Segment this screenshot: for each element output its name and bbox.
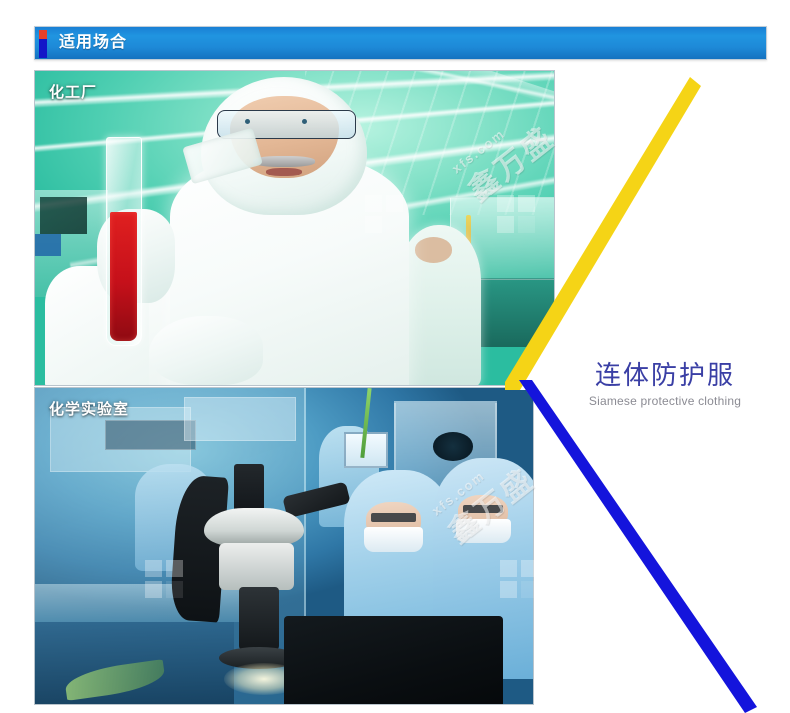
photo-caption-chemical-plant: 化工厂: [49, 81, 97, 102]
technician-face-mask: [364, 527, 424, 552]
product-title-block: 连体防护服 Siamese protective clothing: [560, 362, 770, 409]
worker-mustache: [253, 156, 315, 167]
cleanroom-blue-background: [35, 388, 533, 704]
photo-caption-chemical-laboratory: 化学实验室: [49, 398, 129, 419]
rear-worker-face: [415, 237, 452, 262]
technician-eyes: [371, 513, 416, 522]
microscope-body: [204, 508, 304, 546]
blue-diagonal-ribbon: [505, 380, 765, 713]
wall-blue-sign: [35, 234, 61, 256]
product-detail-page: 适用场合: [0, 0, 790, 713]
microscope-stage: [219, 543, 294, 590]
accent-red-block: [39, 30, 47, 39]
section-header-bar: 适用场合: [34, 26, 767, 60]
product-title-chinese: 连体防护服: [560, 362, 770, 391]
test-tube-red-liquid: [110, 212, 137, 341]
background-equipment: [481, 278, 555, 347]
accent-blue-block: [39, 39, 47, 58]
worker-glove-lower: [149, 316, 263, 385]
header-accent-marker: [39, 30, 47, 58]
product-title-english: Siamese protective clothing: [560, 394, 770, 408]
technician-face-mask: [456, 519, 511, 543]
technician-eyes: [463, 505, 503, 513]
microscope-head: [234, 464, 264, 515]
lab-shelf: [105, 420, 197, 450]
section-header-title: 适用场合: [59, 35, 127, 51]
desktop-monitor: [284, 616, 503, 705]
lab-shelf: [184, 397, 296, 440]
worker-eye: [245, 119, 250, 124]
cleanroom-green-background: [35, 71, 554, 385]
photo-chemical-laboratory: 化学实验室: [34, 387, 534, 705]
wall-equipment-box: [40, 197, 87, 235]
photo-chemical-plant: 化工厂: [34, 70, 555, 386]
cabinet-port: [433, 432, 473, 460]
microscope-column: [239, 587, 279, 650]
